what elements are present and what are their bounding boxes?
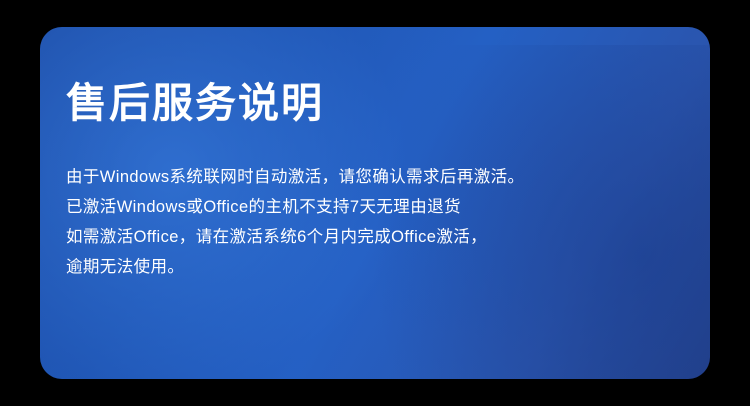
service-note-line: 逾期无法使用。: [66, 252, 710, 282]
after-sales-service-card: 售后服务说明 由于Windows系统联网时自动激活，请您确认需求后再激活。 已激…: [40, 27, 710, 379]
service-notes-list: 由于Windows系统联网时自动激活，请您确认需求后再激活。 已激活Window…: [66, 162, 710, 282]
service-note-line: 如需激活Office，请在激活系统6个月内完成Office激活，: [66, 222, 710, 252]
page-root: 售后服务说明 由于Windows系统联网时自动激活，请您确认需求后再激活。 已激…: [0, 0, 750, 406]
page-title: 售后服务说明: [66, 81, 710, 126]
service-note-line: 由于Windows系统联网时自动激活，请您确认需求后再激活。: [66, 162, 710, 192]
service-note-line: 已激活Windows或Office的主机不支持7天无理由退货: [66, 192, 710, 222]
card-content: 售后服务说明 由于Windows系统联网时自动激活，请您确认需求后再激活。 已激…: [40, 27, 710, 282]
